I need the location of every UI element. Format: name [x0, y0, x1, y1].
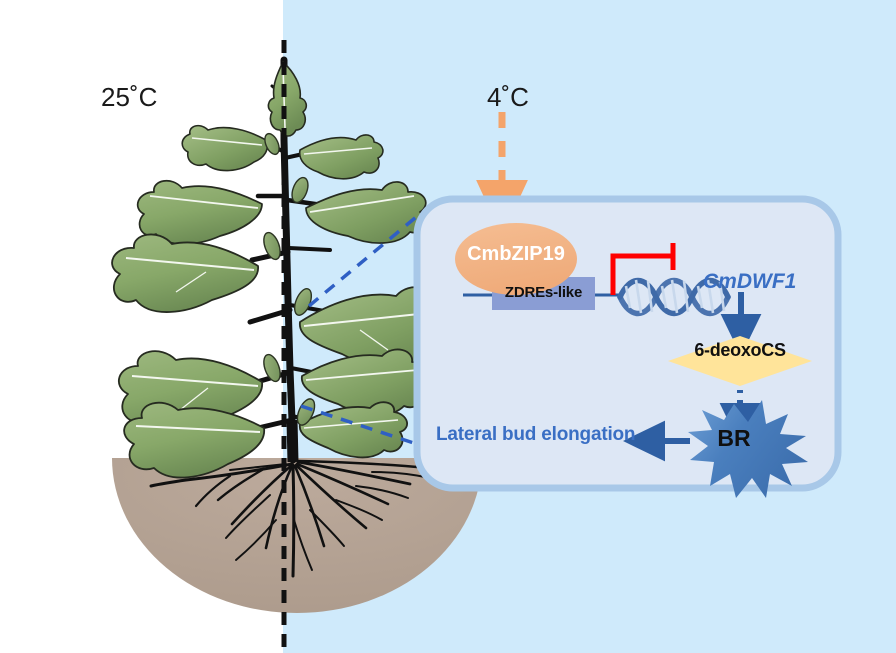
br-label: BR — [700, 425, 768, 452]
zdres-like-label: ZDREs-like — [497, 284, 590, 301]
cmbzip19-label: CmbZIP19 — [460, 243, 572, 266]
cmdwf1-label: CmDWF1 — [703, 270, 796, 294]
pathway-layer — [0, 0, 896, 653]
deoxocs-label: 6-deoxoCS — [676, 340, 804, 361]
figure-canvas: 25˚C 4˚C — [0, 0, 896, 653]
lateral-bud-elongation-label: Lateral bud elongation — [436, 424, 635, 446]
